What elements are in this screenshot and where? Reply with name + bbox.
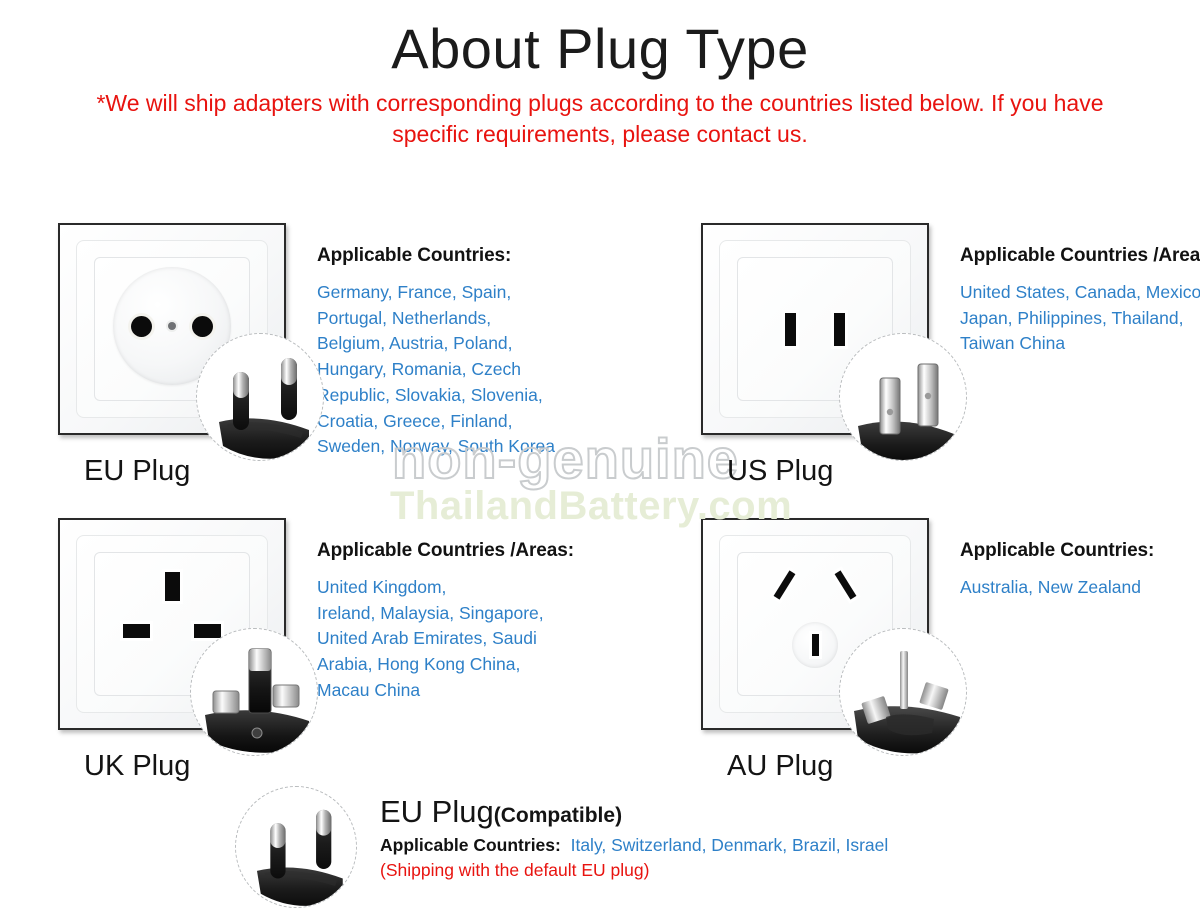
- socket-wrap-uk: UK Plug: [58, 518, 301, 730]
- applicable-countries-eu: Germany, France, Spain, Portugal, Nether…: [317, 280, 601, 460]
- page-title: About Plug Type: [0, 18, 1200, 80]
- plug-label-uk: UK Plug: [84, 750, 190, 783]
- plug-block-au: AU Plug Applicable Countries: Australia,…: [701, 518, 1200, 730]
- applicable-heading-eu: Applicable Countries:: [317, 245, 601, 267]
- eu-compatible-countries-label: Applicable Countries:: [380, 835, 561, 855]
- country-list-au: Applicable Countries: Australia, New Zea…: [944, 518, 1200, 730]
- applicable-heading-au: Applicable Countries:: [960, 540, 1200, 562]
- socket-wrap-us: US Plug: [701, 223, 944, 460]
- plug-label-au: AU Plug: [727, 750, 833, 783]
- plug-block-uk: UK Plug Applicable Countries /Areas: Uni…: [58, 518, 601, 730]
- country-list-uk: Applicable Countries /Areas: United King…: [301, 518, 601, 730]
- socket-wrap-eu: EU Plug: [58, 223, 301, 460]
- plug-row-bottom: UK Plug Applicable Countries /Areas: Uni…: [0, 518, 1200, 730]
- uk-plug-icon: [190, 628, 318, 756]
- eu-compatible-countries-line: Applicable Countries: Italy, Switzerland…: [380, 835, 1020, 856]
- eu-compatible-countries-value: Italy, Switzerland, Denmark, Brazil, Isr…: [571, 835, 889, 855]
- country-list-eu: Applicable Countries: Germany, France, S…: [301, 223, 601, 460]
- applicable-countries-au: Australia, New Zealand: [960, 575, 1200, 601]
- eu-compatible-block: EU Plug(Compatible) Applicable Countries…: [380, 796, 1020, 881]
- plug-label-eu: EU Plug: [84, 455, 190, 488]
- applicable-heading-us: Applicable Countries /Areas:: [960, 245, 1200, 267]
- eu-plug-icon: [196, 333, 324, 461]
- country-list-us: Applicable Countries /Areas: United Stat…: [944, 223, 1200, 460]
- au-plug-icon: [839, 628, 967, 756]
- applicable-countries-uk: United Kingdom, Ireland, Malaysia, Singa…: [317, 575, 601, 704]
- plug-row-top: EU Plug Applicable Countries: Germany, F…: [0, 223, 1200, 460]
- plug-block-us: US Plug Applicable Countries /Areas: Uni…: [701, 223, 1200, 460]
- eu-compatible-title-suffix: (Compatible): [494, 804, 622, 827]
- socket-wrap-au: AU Plug: [701, 518, 944, 730]
- eu-compatible-plug-icon: [235, 786, 357, 908]
- eu-compatible-note: (Shipping with the default EU plug): [380, 860, 1020, 881]
- plug-label-us: US Plug: [727, 455, 833, 488]
- page-subtitle: *We will ship adapters with correspondin…: [55, 88, 1145, 150]
- us-plug-icon: [839, 333, 967, 461]
- applicable-countries-us: United States, Canada, Mexico, Japan, Ph…: [960, 280, 1200, 357]
- eu-compatible-title-main: EU Plug: [380, 794, 494, 829]
- plug-block-eu: EU Plug Applicable Countries: Germany, F…: [58, 223, 601, 460]
- eu-compatible-title: EU Plug(Compatible): [380, 796, 1020, 827]
- applicable-heading-uk: Applicable Countries /Areas:: [317, 540, 601, 562]
